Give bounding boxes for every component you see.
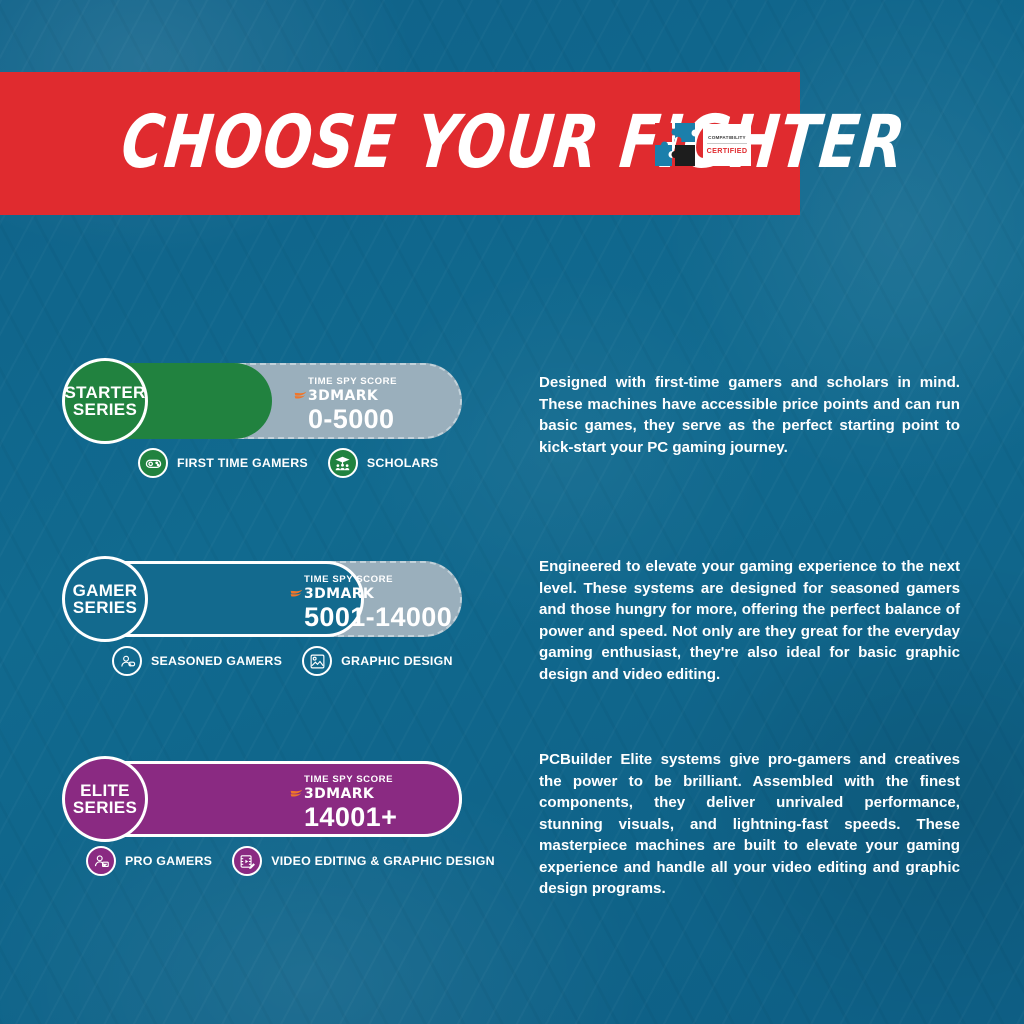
tier-starter: TIME SPY SCORE 3DMARK 0-5000 STARTER SER… bbox=[62, 358, 462, 444]
certified-top-text: COMPATIBILITY bbox=[708, 136, 746, 141]
infographic-page: CHOOSE YOUR FIGHTER COMPATIBILITY CERTIF… bbox=[0, 0, 1024, 1024]
brand-logo-text: 3DMARK bbox=[304, 587, 374, 601]
tag-row: PRO GAMERS VIDEO EDITING & GRAPHIC DESIG… bbox=[86, 846, 495, 876]
graduation-people-icon bbox=[328, 448, 358, 478]
score-bar-elite: TIME SPY SCORE 3DMARK 14001+ ELITE SERIE… bbox=[62, 756, 462, 842]
certified-label-box: COMPATIBILITY CERTIFIED bbox=[703, 124, 751, 166]
puzzle-icon bbox=[652, 120, 702, 170]
score-block: TIME SPY SCORE 3DMARK 5001-14000 bbox=[290, 575, 452, 631]
score-value: 14001+ bbox=[304, 804, 397, 831]
tag-label: FIRST TIME GAMERS bbox=[177, 456, 308, 470]
certified-bottom-text: CERTIFIED bbox=[707, 147, 748, 154]
score-block: TIME SPY SCORE 3DMARK 14001+ bbox=[290, 775, 397, 831]
brand-logo: 3DMARK bbox=[294, 389, 397, 403]
tag-scholars: SCHOLARS bbox=[328, 448, 439, 478]
tier-elite: TIME SPY SCORE 3DMARK 14001+ ELITE SERIE… bbox=[62, 756, 462, 842]
tag-video-editing-graphic-design: VIDEO EDITING & GRAPHIC DESIGN bbox=[232, 846, 495, 876]
tag-label: GRAPHIC DESIGN bbox=[341, 654, 453, 668]
tag-label: PRO GAMERS bbox=[125, 854, 212, 868]
gamepad-icon bbox=[138, 448, 168, 478]
series-badge-line2: SERIES bbox=[73, 401, 137, 418]
compatibility-certified-badge: COMPATIBILITY CERTIFIED bbox=[652, 117, 751, 173]
swoosh-icon bbox=[290, 587, 303, 600]
score-label: TIME SPY SCORE bbox=[304, 775, 397, 785]
tag-row: SEASONED GAMERS GRAPHIC DESIGN bbox=[112, 646, 453, 676]
tag-pro-gamers: PRO GAMERS bbox=[86, 846, 212, 876]
tier-gamer: TIME SPY SCORE 3DMARK 5001-14000 GAMER S… bbox=[62, 556, 462, 642]
description-elite: PCBuilder Elite systems give pro-gamers … bbox=[539, 749, 960, 900]
brand-logo-text: 3DMARK bbox=[304, 787, 374, 801]
score-bar-starter: TIME SPY SCORE 3DMARK 0-5000 STARTER SER… bbox=[62, 358, 462, 444]
swoosh-icon bbox=[294, 389, 307, 402]
tag-label: SCHOLARS bbox=[367, 456, 439, 470]
tag-first-time-gamers: FIRST TIME GAMERS bbox=[138, 448, 308, 478]
series-badge-line2: SERIES bbox=[73, 599, 137, 616]
tag-row: FIRST TIME GAMERS SCHOLARS bbox=[138, 448, 438, 478]
series-badge: GAMER SERIES bbox=[62, 556, 148, 642]
series-badge: STARTER SERIES bbox=[62, 358, 148, 444]
score-label: TIME SPY SCORE bbox=[304, 575, 452, 585]
gamer-headset-icon bbox=[112, 646, 142, 676]
certified-divider bbox=[707, 143, 747, 144]
series-badge-line1: ELITE bbox=[80, 782, 130, 799]
description-gamer: Engineered to elevate your gaming experi… bbox=[539, 556, 960, 685]
tag-label: SEASONED GAMERS bbox=[151, 654, 282, 668]
pro-gamer-icon bbox=[86, 846, 116, 876]
swoosh-icon bbox=[290, 787, 303, 800]
description-starter: Designed with first-time gamers and scho… bbox=[539, 372, 960, 458]
score-block: TIME SPY SCORE 3DMARK 0-5000 bbox=[294, 377, 397, 433]
series-badge-line2: SERIES bbox=[73, 799, 137, 816]
score-label: TIME SPY SCORE bbox=[308, 377, 397, 387]
design-palette-icon bbox=[302, 646, 332, 676]
page-title: CHOOSE YOUR FIGHTER bbox=[118, 107, 909, 180]
tag-seasoned-gamers: SEASONED GAMERS bbox=[112, 646, 282, 676]
brand-logo-text: 3DMARK bbox=[308, 389, 378, 403]
series-badge: ELITE SERIES bbox=[62, 756, 148, 842]
tag-graphic-design: GRAPHIC DESIGN bbox=[302, 646, 453, 676]
series-badge-line1: STARTER bbox=[64, 384, 145, 401]
score-bar-gamer: TIME SPY SCORE 3DMARK 5001-14000 GAMER S… bbox=[62, 556, 462, 642]
video-edit-icon bbox=[232, 846, 262, 876]
score-value: 0-5000 bbox=[308, 406, 397, 433]
tag-label: VIDEO EDITING & GRAPHIC DESIGN bbox=[271, 854, 495, 868]
series-badge-line1: GAMER bbox=[73, 582, 138, 599]
brand-logo: 3DMARK bbox=[290, 587, 452, 601]
score-value: 5001-14000 bbox=[304, 604, 452, 631]
brand-logo: 3DMARK bbox=[290, 787, 397, 801]
